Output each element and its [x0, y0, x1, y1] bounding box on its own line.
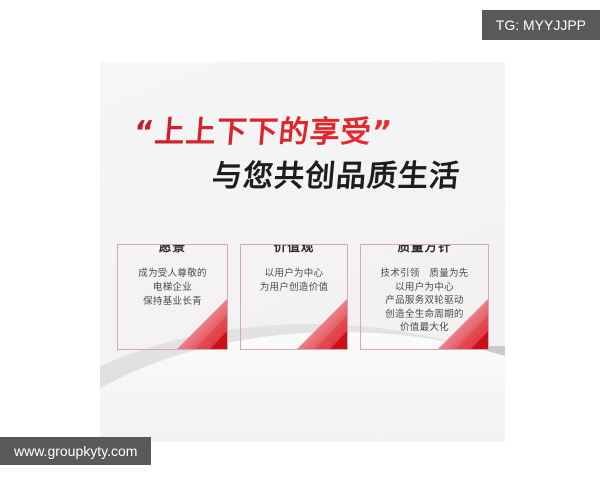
card-corner-accent-icon — [295, 297, 348, 350]
card-values: 价值观 以用户为中心 为用户创造价值 — [240, 244, 348, 350]
headline-primary: “上上下下的享受” — [100, 114, 505, 152]
card-quality-policy-line-1: 技术引领 质量为先 — [367, 267, 482, 281]
card-quality-policy-body: 技术引领 质量为先 以用户为中心 产品服务双轮驱动 创造全生命周期的 价值最大化 — [367, 267, 482, 335]
card-quality-policy-title: 质量方针 — [389, 244, 459, 255]
card-vision-line-1: 成为受人尊敬的 — [124, 267, 221, 281]
value-cards-row: 愿景 成为受人尊敬的 电梯企业 保持基业长青 — [117, 244, 489, 350]
headline-secondary: 与您共创品质生活 — [100, 158, 505, 196]
card-vision: 愿景 成为受人尊敬的 电梯企业 保持基业长青 — [117, 244, 228, 350]
card-quality-policy-line-2: 以用户为中心 — [367, 281, 482, 295]
card-values-line-2: 为用户创造价值 — [247, 281, 341, 295]
slide-canvas: “上上下下的享受” 与您共创品质生活 愿景 成为受人尊敬的 电梯企业 保持基业长… — [0, 0, 600, 480]
watermark-telegram: TG: MYYJJPP — [482, 10, 600, 40]
card-quality-policy: 质量方针 技术引领 质量为先 以用户为中心 产品服务双轮驱动 创造全生命周期的 … — [360, 244, 489, 350]
card-values-line-1: 以用户为中心 — [247, 267, 341, 281]
headline-block: “上上下下的享受” 与您共创品质生活 — [100, 114, 505, 196]
card-vision-line-3: 保持基业长青 — [124, 295, 221, 309]
card-quality-policy-line-3: 产品服务双轮驱动 — [367, 294, 482, 308]
card-vision-line-2: 电梯企业 — [124, 281, 221, 295]
card-vision-body: 成为受人尊敬的 电梯企业 保持基业长青 — [124, 267, 221, 309]
card-quality-policy-line-5: 价值最大化 — [367, 321, 482, 335]
card-quality-policy-line-4: 创造全生命周期的 — [367, 308, 482, 322]
watermark-website: www.groupkyty.com — [0, 437, 151, 465]
card-values-body: 以用户为中心 为用户创造价值 — [247, 267, 341, 295]
content-panel: “上上下下的享受” 与您共创品质生活 愿景 成为受人尊敬的 电梯企业 保持基业长… — [100, 62, 505, 442]
card-values-title: 价值观 — [266, 244, 323, 255]
card-vision-title: 愿景 — [151, 244, 194, 255]
